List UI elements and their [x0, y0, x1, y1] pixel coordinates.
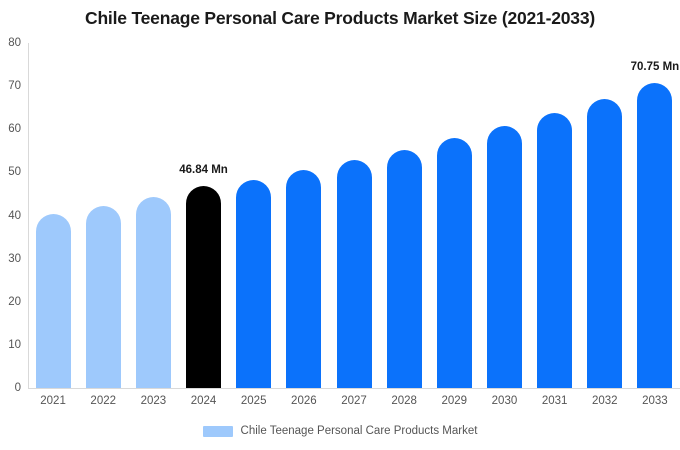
chart-title: Chile Teenage Personal Care Products Mar…	[0, 8, 680, 29]
y-axis-tick: 80	[8, 37, 21, 49]
bar-group: 2021	[36, 43, 71, 388]
y-axis-tick: 50	[8, 166, 21, 178]
x-axis-tick: 2022	[90, 395, 116, 407]
bar-group: 2022	[86, 43, 121, 388]
x-axis-tick: 2031	[542, 395, 568, 407]
bar-2026[interactable]	[286, 170, 321, 388]
bar-group: 2028	[387, 43, 422, 388]
bar-series: 20212022202346.84 Mn20242025202620272028…	[28, 43, 680, 388]
bar-group: 46.84 Mn2024	[186, 43, 221, 388]
bar-group: 2027	[337, 43, 372, 388]
bar-2025[interactable]	[236, 180, 271, 388]
bar-group: 70.75 Mn2033	[637, 43, 672, 388]
bar-group: 2026	[286, 43, 321, 388]
x-axis-tick: 2027	[341, 395, 367, 407]
bar-2024[interactable]	[186, 186, 221, 388]
x-axis-tick: 2029	[442, 395, 468, 407]
y-axis-tick: 70	[8, 80, 21, 92]
bar-2021[interactable]	[36, 214, 71, 388]
y-axis-tick: 0	[15, 382, 21, 394]
y-axis-tick: 20	[8, 296, 21, 308]
bar-value-label: 46.84 Mn	[179, 164, 228, 176]
bar-group: 2023	[136, 43, 171, 388]
y-axis-tick: 10	[8, 339, 21, 351]
bar-2029[interactable]	[437, 138, 472, 388]
y-axis-tick: 30	[8, 253, 21, 265]
y-axis-tick: 40	[8, 210, 21, 222]
bar-2033[interactable]	[637, 83, 672, 388]
plot-area: 01020304050607080 20212022202346.84 Mn20…	[28, 43, 680, 388]
x-axis-tick: 2032	[592, 395, 618, 407]
x-axis-tick: 2025	[241, 395, 267, 407]
y-axis-tick: 60	[8, 123, 21, 135]
bar-value-label: 70.75 Mn	[631, 61, 680, 73]
bar-2027[interactable]	[337, 160, 372, 388]
bar-group: 2030	[487, 43, 522, 388]
bar-group: 2032	[587, 43, 622, 388]
bar-2030[interactable]	[487, 126, 522, 388]
bar-2022[interactable]	[86, 206, 121, 388]
legend-swatch	[203, 426, 233, 437]
legend-label: Chile Teenage Personal Care Products Mar…	[241, 425, 478, 437]
chart-container: Chile Teenage Personal Care Products Mar…	[0, 0, 680, 450]
x-axis-tick: 2024	[191, 395, 217, 407]
x-axis-tick: 2028	[391, 395, 417, 407]
x-axis-tick: 2033	[642, 395, 668, 407]
chart-legend: Chile Teenage Personal Care Products Mar…	[0, 425, 680, 437]
bar-2032[interactable]	[587, 99, 622, 388]
bar-group: 2031	[537, 43, 572, 388]
x-axis-tick: 2023	[141, 395, 167, 407]
x-axis-tick: 2021	[40, 395, 66, 407]
bar-2023[interactable]	[136, 197, 171, 388]
bar-group: 2029	[437, 43, 472, 388]
bar-2028[interactable]	[387, 150, 422, 388]
x-axis-tick: 2026	[291, 395, 317, 407]
bar-group: 2025	[236, 43, 271, 388]
x-axis-line	[28, 388, 680, 389]
bar-2031[interactable]	[537, 113, 572, 388]
x-axis-tick: 2030	[492, 395, 518, 407]
